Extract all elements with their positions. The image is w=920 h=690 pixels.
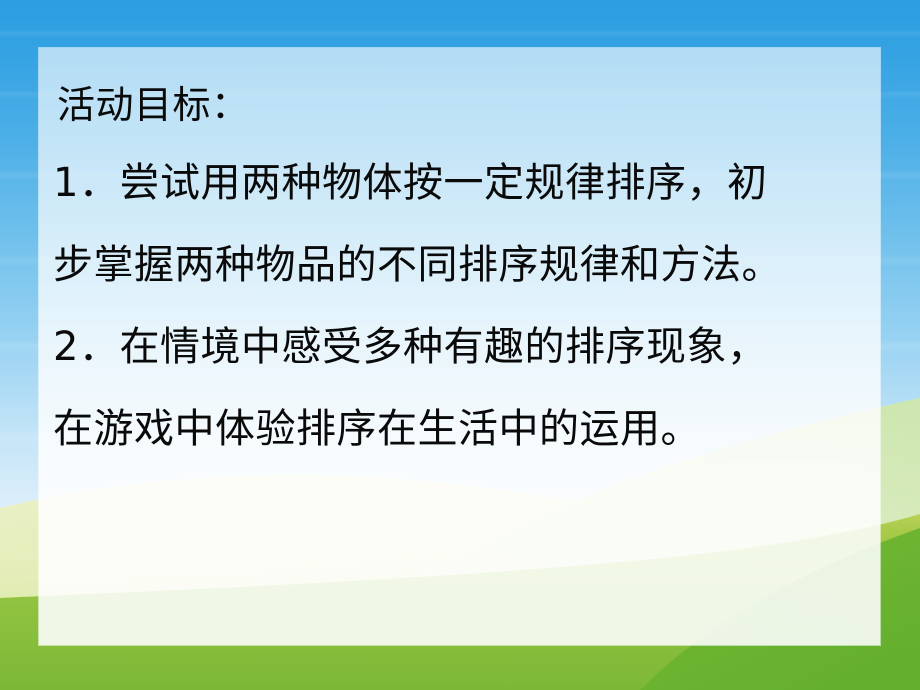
page-title: 活动目标： [49, 68, 870, 142]
objective-2-line-1: 2．在情境中感受多种有趣的排序现象， [49, 306, 870, 388]
objective-2-line-2: 在游戏中体验排序在生活中的运用。 [49, 388, 870, 470]
slide-canvas: 活动目标： 1．尝试用两种物体按一定规律排序，初 步掌握两种物品的不同排序规律和… [0, 0, 920, 690]
objective-1-line-1: 1．尝试用两种物体按一定规律排序，初 [49, 142, 870, 224]
objective-1-line-2: 步掌握两种物品的不同排序规律和方法。 [49, 224, 870, 306]
content-card: 活动目标： 1．尝试用两种物体按一定规律排序，初 步掌握两种物品的不同排序规律和… [39, 48, 880, 645]
objectives-text-block: 活动目标： 1．尝试用两种物体按一定规律排序，初 步掌握两种物品的不同排序规律和… [39, 48, 880, 470]
